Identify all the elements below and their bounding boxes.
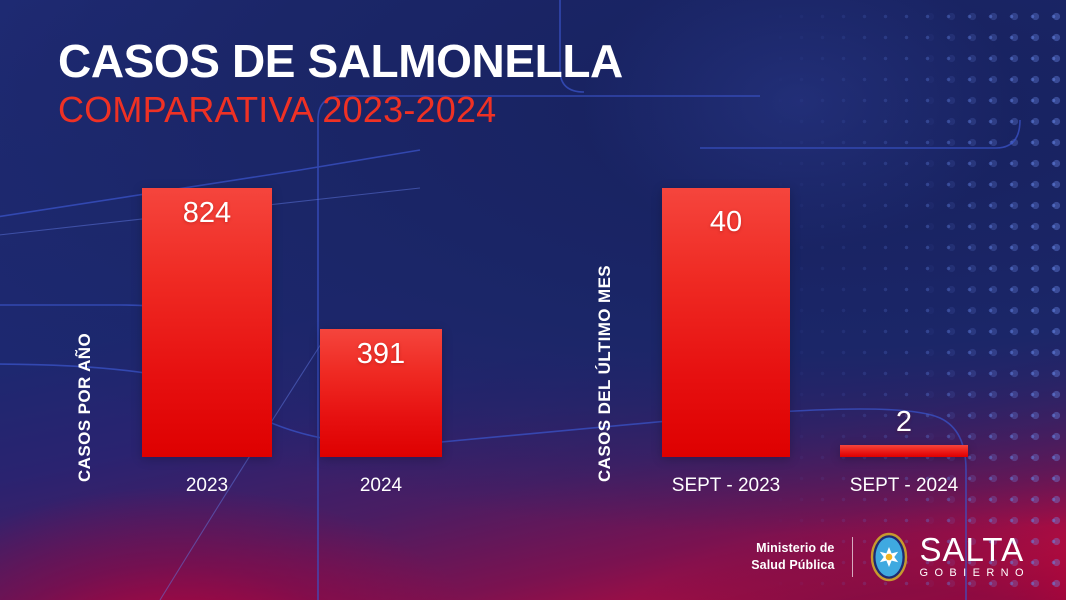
footer: Ministerio de Salud Pública SALTA GOBIER… [751,532,1030,582]
infographic-root: CASOS DE SALMONELLA COMPARATIVA 2023-202… [0,0,1066,600]
bar-value-sept-2024: 2 [840,408,968,437]
bar-label-sept-2024: SEPT - 2024 [833,476,975,495]
bar-label-sept-2023: SEPT - 2023 [655,476,797,495]
salta-brand-sub: GOBIERNO [920,568,1031,579]
salta-wordmark: SALTA GOBIERNO [920,535,1031,579]
salta-gobierno-logo: SALTA GOBIERNO [870,532,1031,582]
bar-value-2023: 824 [142,199,272,228]
footer-divider [852,537,853,577]
ministry-label: Ministerio de Salud Pública [751,540,834,574]
bar-chart: CASOS POR AÑO 824 2023 391 2024 CASOS DE… [0,0,1066,600]
axis-title-casos-ultimo-mes: CASOS DEL ÚLTIMO MES [595,265,615,482]
bar-label-2024: 2024 [320,476,442,495]
axis-title-casos-por-ano: CASOS POR AÑO [75,333,95,482]
bar-value-2024: 391 [320,340,442,369]
bar-label-2023: 2023 [142,476,272,495]
salta-brand-name: SALTA [920,535,1031,565]
ministry-line-1: Ministerio de [751,540,834,557]
bar-value-sept-2023: 40 [662,208,790,237]
ministry-line-2: Salud Pública [751,557,834,574]
salta-cockade-emblem-icon [870,532,908,582]
bar-sept-2024 [840,445,968,457]
